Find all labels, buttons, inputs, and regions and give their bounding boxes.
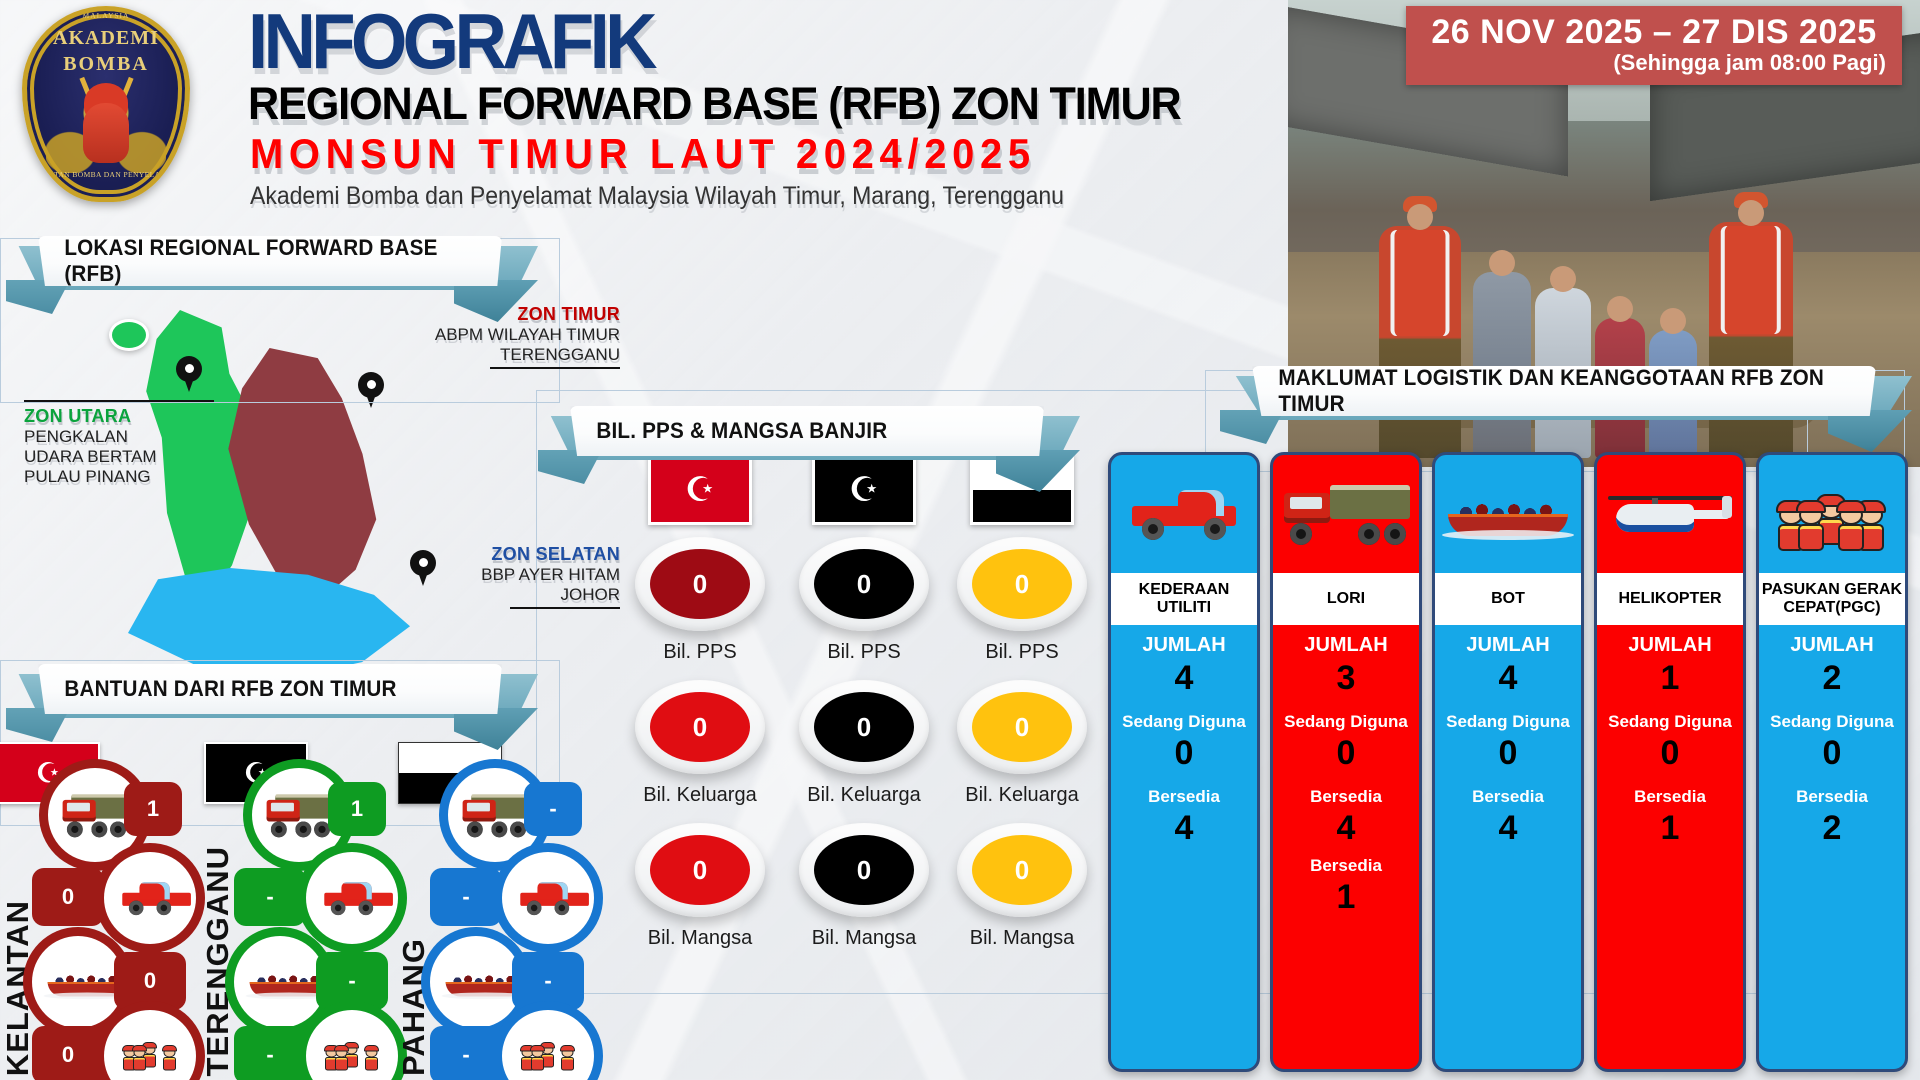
page-subtitle-monsun: MONSUN TIMUR LAUT 2024/2025 xyxy=(250,130,1036,178)
zone-line-2: TERENGGANU xyxy=(398,345,620,365)
ribbon-logistik: MAKLUMAT LOGISTIK DAN KEANGGOTAAN RFB ZO… xyxy=(1222,358,1912,453)
pickup-truck-icon xyxy=(502,852,594,944)
head-shape xyxy=(1407,204,1433,230)
zone-line-1: BBP AYER HITAM xyxy=(430,565,620,585)
bantuan-value-pickup: - xyxy=(430,868,502,926)
state-name: PAHANG xyxy=(396,938,432,1076)
state-name: TERENGGANU xyxy=(200,846,236,1076)
lorry-icon xyxy=(1273,455,1419,573)
ribbon-fold-right xyxy=(996,450,1080,492)
bantuan-value-lorry: 1 xyxy=(124,782,182,836)
pickup-truck-icon xyxy=(1111,455,1257,573)
logistik-cards: KEDERAAN UTILITI JUMLAH 4 Sedang Diguna … xyxy=(1108,452,1908,1072)
life-vest xyxy=(1721,226,1781,335)
ribbon-plate: BANTUAN DARI RFB ZON TIMUR xyxy=(38,664,502,714)
card-title: KEDERAAN UTILITI xyxy=(1111,573,1257,625)
crescent-star-icon: ☪ xyxy=(35,757,60,790)
jumlah-value: 3 xyxy=(1273,659,1419,698)
bersedia-value: 4 xyxy=(1435,809,1581,848)
bantuan-value-pickup: - xyxy=(234,868,306,926)
rescue-team-icon xyxy=(1759,455,1905,573)
bersedia-label: Bersedia xyxy=(1759,787,1905,807)
rescue-team-icon: PGC xyxy=(306,1010,398,1080)
ribbon-fold-right xyxy=(454,708,538,750)
sedang-diguna-label: Sedang Diguna xyxy=(1435,712,1581,732)
sedang-diguna-value: 0 xyxy=(1111,734,1257,773)
sedang-diguna-label: Sedang Diguna xyxy=(1111,712,1257,732)
jumlah-value: 1 xyxy=(1597,659,1743,698)
zone-title: ZON TIMUR xyxy=(398,304,620,325)
jumlah-label: JUMLAH xyxy=(1435,634,1581,657)
bantuan-section: ☪ KELANTAN 1 0 0 PGC 0 ☪ xyxy=(0,740,620,1080)
label-rule xyxy=(24,400,214,402)
ribbon-logistik-label: MAKLUMAT LOGISTIK DAN KEANGGOTAAN RFB ZO… xyxy=(1252,365,1839,417)
logistik-card-helikopter[interactable]: HELIKOPTER JUMLAH 1 Sedang Diguna 0 Bers… xyxy=(1594,452,1746,1072)
ribbon-pps: BIL. PPS & MANGSA BANJIR xyxy=(540,398,1080,493)
head-shape xyxy=(1489,250,1515,276)
sedang-diguna-value: 0 xyxy=(1597,734,1743,773)
card-title: PASUKAN GERAK CEPAT(PGC) xyxy=(1759,573,1905,625)
zone-title: ZON SELATAN xyxy=(430,544,620,565)
page-title: REGIONAL FORWARD BASE (RFB) ZON TIMUR xyxy=(248,78,1181,130)
bersedia-value: 4 xyxy=(1111,809,1257,848)
sedang-diguna-label: Sedang Diguna xyxy=(1273,712,1419,732)
jumlah-label: JUMLAH xyxy=(1111,634,1257,657)
date-range: 26 NOV 2025 – 27 DIS 2025 xyxy=(1422,14,1886,50)
crest-line-malaysia: MALAYSIA xyxy=(27,11,185,190)
logistik-card-kenderaan-utiliti[interactable]: KEDERAAN UTILITI JUMLAH 4 Sedang Diguna … xyxy=(1108,452,1260,1072)
zone-line-1: PENGKALAN xyxy=(24,427,214,447)
bersedia-extra-value: 1 xyxy=(1273,878,1419,917)
bantuan-value-pgc: - xyxy=(234,1026,306,1080)
label-rule xyxy=(510,607,620,609)
head-shape xyxy=(1550,266,1576,292)
map-label-selatan: ZON SELATAN BBP AYER HITAM JOHOR xyxy=(430,544,620,609)
pickup-truck-icon xyxy=(104,852,196,944)
sedang-diguna-value: 0 xyxy=(1273,734,1419,773)
zone-line-3: PULAU PINANG xyxy=(24,467,214,487)
bersedia-value: 4 xyxy=(1273,809,1419,848)
jumlah-label: JUMLAH xyxy=(1273,634,1419,657)
bantuan-value-pgc: 0 xyxy=(32,1026,104,1080)
zone-title: ZON UTARA xyxy=(24,406,214,427)
date-note: (Sehingga jam 08:00 Pagi) xyxy=(1422,51,1886,75)
zone-line-1: ABPM WILAYAH TIMUR xyxy=(398,325,620,345)
jumlah-value: 4 xyxy=(1435,659,1581,698)
bantuan-group-terengganu: ☪ TERENGGANU 1 - - PGC - xyxy=(196,740,406,1080)
sedang-diguna-value: 0 xyxy=(1759,734,1905,773)
rescue-team-icon: PGC xyxy=(502,1010,594,1080)
sedang-diguna-label: Sedang Diguna xyxy=(1759,712,1905,732)
ribbon-lokasi-label: LOKASI REGIONAL FORWARD BASE (RFB) xyxy=(38,235,474,287)
zone-line-2: UDARA BERTAM xyxy=(24,447,214,467)
card-title: HELIKOPTER xyxy=(1597,573,1743,625)
bantuan-value-lorry: - xyxy=(524,782,582,836)
head-shape xyxy=(1660,308,1686,334)
bersedia-label: Bersedia xyxy=(1597,787,1743,807)
bomba-academy-logo: AKADEMI BOMBA JABATAN BOMBA DAN PENYELAM… xyxy=(22,6,202,206)
logistik-card-bot[interactable]: BOT JUMLAH 4 Sedang Diguna 0 Bersedia 4 xyxy=(1432,452,1584,1072)
head-shape xyxy=(1607,296,1633,322)
date-banner: 26 NOV 2025 – 27 DIS 2025 (Sehingga jam … xyxy=(1406,6,1902,85)
map-label-utara: ZON UTARA PENGKALAN UDARA BERTAM PULAU P… xyxy=(24,400,214,487)
bersedia-label: Bersedia xyxy=(1435,787,1581,807)
logistik-card-lori[interactable]: LORI JUMLAH 3 Sedang Diguna 0 Bersedia 4… xyxy=(1270,452,1422,1072)
boat-icon xyxy=(430,936,522,1028)
zone-line-2: JOHOR xyxy=(430,585,620,605)
boat-icon xyxy=(1435,455,1581,573)
ribbon-bantuan-label: BANTUAN DARI RFB ZON TIMUR xyxy=(38,676,397,702)
ribbon-pps-label: BIL. PPS & MANGSA BANJIR xyxy=(570,418,887,444)
rescue-team-icon: PGC xyxy=(104,1010,196,1080)
ribbon-plate: MAKLUMAT LOGISTIK DAN KEANGGOTAAN RFB ZO… xyxy=(1252,366,1876,416)
bantuan-group-pahang: PAHANG - - - PGC - xyxy=(392,740,602,1080)
card-title: BOT xyxy=(1435,573,1581,625)
organisation-line: Akademi Bomba dan Penyelamat Malaysia Wi… xyxy=(250,182,1064,211)
ribbon-plate: BIL. PPS & MANGSA BANJIR xyxy=(570,406,1044,456)
jumlah-label: JUMLAH xyxy=(1759,634,1905,657)
state-name: KELANTAN xyxy=(0,900,36,1076)
boat-icon xyxy=(234,936,326,1028)
ribbon-plate: LOKASI REGIONAL FORWARD BASE (RFB) xyxy=(38,236,502,286)
bersedia-value: 2 xyxy=(1759,809,1905,848)
life-vest xyxy=(1390,230,1449,337)
bantuan-value-boat: 0 xyxy=(114,952,186,1010)
bantuan-value-pgc: - xyxy=(430,1026,502,1080)
bersedia-value: 1 xyxy=(1597,809,1743,848)
ribbon-fold-right xyxy=(1828,410,1912,452)
page-header: AKADEMI BOMBA JABATAN BOMBA DAN PENYELAM… xyxy=(0,0,1300,215)
head-shape xyxy=(1738,200,1764,226)
ribbon-bantuan: BANTUAN DARI RFB ZON TIMUR xyxy=(8,656,538,751)
card-title: LORI xyxy=(1273,573,1419,625)
boat-icon xyxy=(32,936,124,1028)
bantuan-value-lorry: 1 xyxy=(328,782,386,836)
sedang-diguna-label: Sedang Diguna xyxy=(1597,712,1743,732)
map-label-timur: ZON TIMUR ABPM WILAYAH TIMUR TERENGGANU xyxy=(398,304,620,369)
infografik-word: INFOGRAFIK xyxy=(248,0,653,87)
bantuan-value-pickup: 0 xyxy=(32,868,104,926)
jumlah-value: 2 xyxy=(1759,659,1905,698)
sedang-diguna-value: 0 xyxy=(1435,734,1581,773)
jumlah-value: 4 xyxy=(1111,659,1257,698)
bersedia-label: Bersedia xyxy=(1111,787,1257,807)
crest-shape: AKADEMI BOMBA JABATAN BOMBA DAN PENYELAM… xyxy=(22,6,190,202)
bantuan-group-kelantan: ☪ KELANTAN 1 0 0 PGC 0 xyxy=(0,740,206,1080)
pickup-truck-icon xyxy=(306,852,398,944)
jumlah-label: JUMLAH xyxy=(1597,634,1743,657)
bantuan-value-boat: - xyxy=(512,952,584,1010)
logistik-card-pgc[interactable]: PASUKAN GERAK CEPAT(PGC) JUMLAH 2 Sedang… xyxy=(1756,452,1908,1072)
bantuan-value-boat: - xyxy=(316,952,388,1010)
label-rule xyxy=(490,367,620,369)
helicopter-icon xyxy=(1597,455,1743,573)
bersedia-extra-label: Bersedia xyxy=(1273,856,1419,876)
bersedia-label: Bersedia xyxy=(1273,787,1419,807)
